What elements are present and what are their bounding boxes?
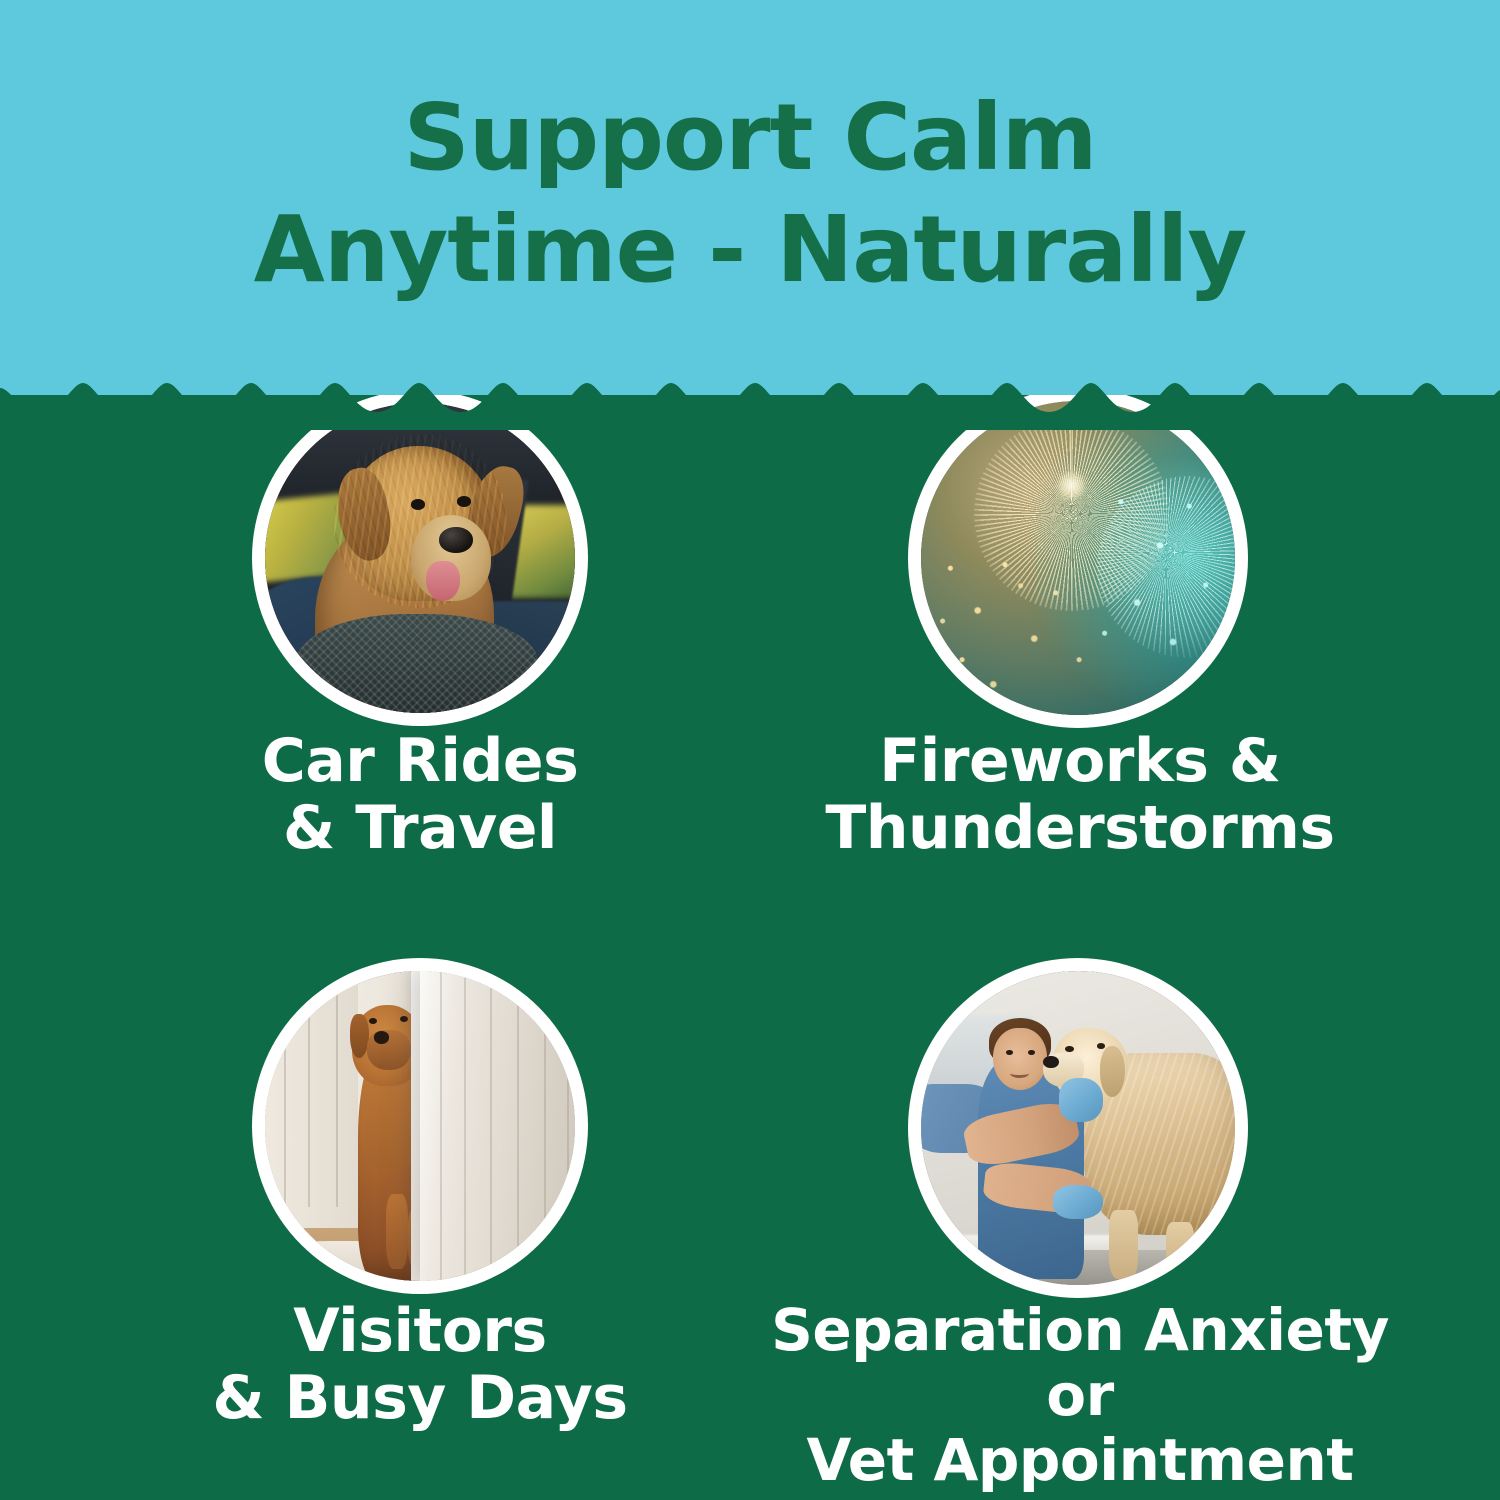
infographic-poster: Support Calm Anytime - Naturally [0,0,1500,1500]
wave-divider [0,370,1500,430]
caption-line-2: & Busy Days [150,1365,690,1432]
fireworks-photo [921,401,1235,715]
caption-line-1: Fireworks & [810,728,1350,795]
caption-line-2: Vet Appointment Stress [730,1428,1430,1500]
caption-line-1: Visitors [150,1298,690,1365]
card-image-car-rides [252,390,588,726]
dog-in-car-photo [265,403,575,713]
card-caption-vet-stress: Separation Anxiety or Vet Appointment St… [730,1298,1430,1500]
card-image-vet-stress [908,958,1248,1298]
dog-at-door-photo [265,971,575,1281]
card-caption-fireworks: Fireworks & Thunderstorms [810,728,1350,862]
card-caption-car-rides: Car Rides & Travel [150,728,690,862]
card-image-visitors [252,958,588,1294]
card-caption-visitors: Visitors & Busy Days [150,1298,690,1432]
caption-line-2: Thunderstorms [810,795,1350,862]
card-image-fireworks [908,388,1248,728]
caption-line-2: & Travel [150,795,690,862]
headline-line-2: Anytime - Naturally [0,194,1500,306]
page-title: Support Calm Anytime - Naturally [0,82,1500,306]
vet-with-dog-photo [921,971,1235,1285]
caption-line-1: Car Rides [150,728,690,795]
headline-line-1: Support Calm [0,82,1500,194]
caption-line-1: Separation Anxiety or [730,1298,1430,1428]
